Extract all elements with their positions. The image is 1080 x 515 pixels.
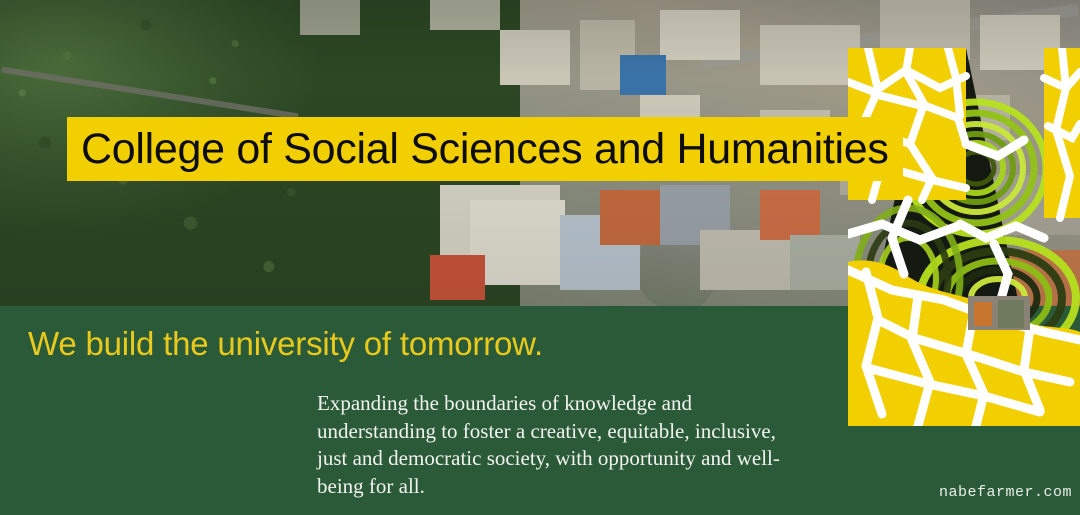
stylized-letter-a-graphic — [848, 48, 1080, 426]
tagline: We build the university of tomorrow. — [28, 325, 543, 363]
title-banner: College of Social Sciences and Humanitie… — [67, 117, 903, 181]
promo-banner: College of Social Sciences and Humanitie… — [0, 0, 1080, 515]
body-copy: Expanding the boundaries of knowledge an… — [317, 390, 787, 501]
page-title: College of Social Sciences and Humanitie… — [81, 128, 889, 171]
watermark: nabefarmer.com — [939, 484, 1072, 501]
